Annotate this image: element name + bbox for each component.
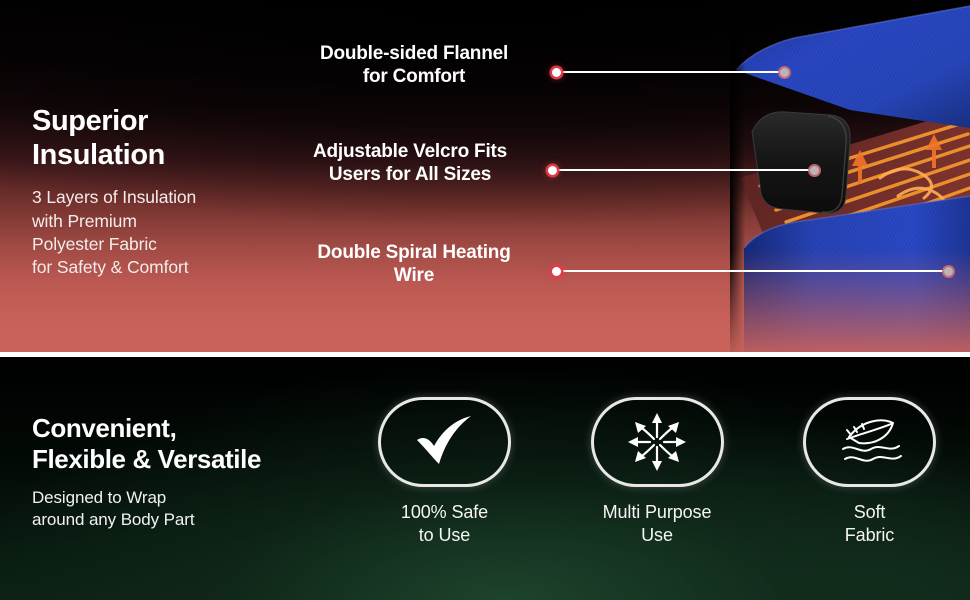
callout-line-1	[556, 71, 784, 73]
superior-insulation-text-block: Superior Insulation 3 Layers of Insulati…	[32, 104, 302, 280]
callout-end-dot-1	[780, 68, 789, 77]
feature-caption-3: Soft Fabric	[777, 501, 962, 546]
callout-line-2	[552, 169, 814, 171]
feature-badge-1	[378, 397, 511, 487]
top-panel-superior-insulation: Superior Insulation 3 Layers of Insulati…	[0, 0, 970, 352]
multi-direction-arrows-icon	[624, 411, 690, 473]
callout-end-dot-3	[944, 267, 953, 276]
feature-badges-row: 100% Safe to Use	[352, 397, 962, 546]
callout-end-dot-2	[810, 166, 819, 175]
checkmark-icon	[413, 414, 477, 470]
callout-label-2: Adjustable Velcro Fits Users for All Siz…	[280, 140, 540, 186]
bottom-panel-convenient-flexible: Convenient, Flexible & Versatile Designe…	[0, 357, 970, 600]
callout-line-3	[556, 270, 948, 272]
product-infographic: Superior Insulation 3 Layers of Insulati…	[0, 0, 970, 600]
callout-start-dot-2	[548, 166, 557, 175]
product-cutaway-image	[730, 0, 970, 352]
bottom-headline: Convenient, Flexible & Versatile	[32, 413, 342, 475]
feature-caption-1: 100% Safe to Use	[352, 501, 537, 546]
callout-label-1: Double-sided Flannel for Comfort	[284, 42, 544, 88]
feather-on-fabric-icon	[833, 413, 907, 471]
feature-badge-3	[803, 397, 936, 487]
top-subcopy: 3 Layers of Insulation with Premium Poly…	[32, 186, 302, 279]
feature-soft-fabric: Soft Fabric	[777, 397, 962, 546]
feature-multi-purpose: Multi Purpose Use	[565, 397, 750, 546]
callout-start-dot-1	[552, 68, 561, 77]
callout-label-3: Double Spiral Heating Wire	[284, 241, 544, 287]
callout-start-dot-3	[552, 267, 561, 276]
bottom-subcopy: Designed to Wrap around any Body Part	[32, 487, 342, 531]
top-headline: Superior Insulation	[32, 104, 302, 172]
convenient-flexible-text-block: Convenient, Flexible & Versatile Designe…	[32, 413, 342, 532]
feature-badge-2	[591, 397, 724, 487]
feature-caption-2: Multi Purpose Use	[565, 501, 750, 546]
feature-100-percent-safe: 100% Safe to Use	[352, 397, 537, 546]
